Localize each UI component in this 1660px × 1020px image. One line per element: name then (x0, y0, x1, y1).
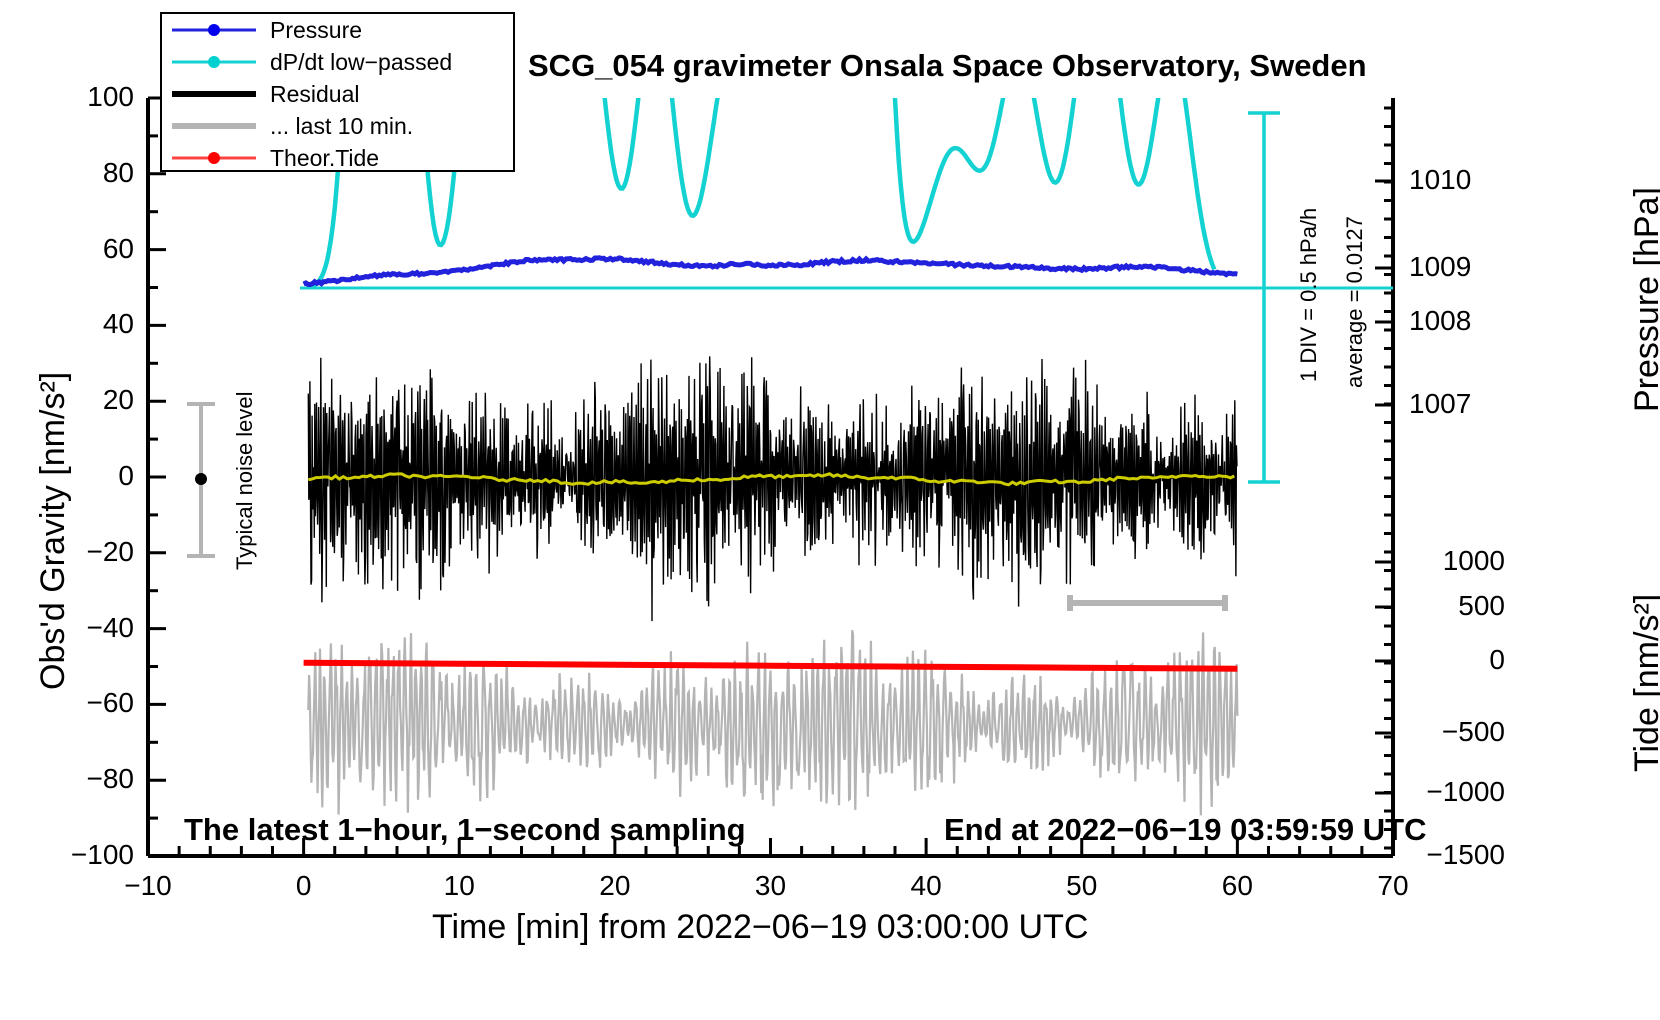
bottom-tick-label: 30 (726, 870, 816, 902)
legend-item-residual: Residual (162, 78, 513, 110)
legend-item-theor-tide: Theor.Tide (162, 142, 513, 174)
dpdt-scale-div-label: 1 DIV = 0.5 hPa/h (1296, 208, 1322, 382)
left-tick-label: 0 (0, 460, 134, 492)
left-tick-label: −60 (0, 687, 134, 719)
chart-root: Pressure dP/dt low−passed Residual ... l… (0, 0, 1660, 1020)
bottom-tick-label: 40 (881, 870, 971, 902)
dpdt-scale-bar (1248, 113, 1280, 482)
left-tick-label: −80 (0, 763, 134, 795)
series-last10min (308, 630, 1237, 815)
right-tide-tick-label: 1000 (1409, 545, 1505, 577)
legend-swatch-theor-tide (172, 148, 256, 168)
right-tide-tick-label: −500 (1409, 716, 1505, 748)
right-axis-ticks (1375, 108, 1393, 856)
left-tick-label: 40 (0, 308, 134, 340)
right-pressure-tick-label: 1009 (1409, 251, 1471, 283)
left-tick-label: 80 (0, 157, 134, 189)
right-tide-axis-title: Tide [nm/s²] (1628, 594, 1660, 772)
bottom-tick-label: 50 (1037, 870, 1127, 902)
series-pressure (304, 258, 1238, 285)
right-pressure-tick-label: 1008 (1409, 305, 1471, 337)
legend-label-residual: Residual (270, 83, 360, 106)
legend-swatch-pressure (172, 20, 256, 40)
right-tide-tick-label: 0 (1409, 644, 1505, 676)
legend-label-last10: ... last 10 min. (270, 115, 413, 138)
bottom-tick-label: −10 (103, 870, 193, 902)
chart-title: SCG_054 gravimeter Onsala Space Observat… (528, 48, 1367, 84)
bottom-tick-label: 70 (1348, 870, 1438, 902)
left-tick-label: −100 (0, 839, 134, 871)
right-pressure-axis-title: Pressure [hPa] (1628, 187, 1660, 412)
series-residual (308, 356, 1237, 621)
left-tick-label: 60 (0, 233, 134, 265)
left-tick-label: −40 (0, 612, 134, 644)
bottom-left-annotation: The latest 1−hour, 1−second sampling (184, 812, 746, 848)
legend-label-dpdt: dP/dt low−passed (270, 51, 452, 74)
left-tick-label: 100 (0, 81, 134, 113)
legend-label-pressure: Pressure (270, 19, 362, 42)
right-tide-tick-label: 500 (1409, 590, 1505, 622)
legend-item-last10: ... last 10 min. (162, 110, 513, 142)
noise-level-label: Typical noise level (232, 391, 258, 570)
bottom-tick-label: 60 (1192, 870, 1282, 902)
left-tick-label: 20 (0, 384, 134, 416)
right-pressure-tick-label: 1007 (1409, 388, 1471, 420)
bottom-tick-label: 10 (414, 870, 504, 902)
last10min-span-bar (1070, 595, 1225, 611)
right-tide-tick-label: −1000 (1409, 776, 1505, 808)
bottom-right-annotation: End at 2022−06−19 03:59:59 UTC (944, 812, 1427, 848)
legend-swatch-residual (172, 84, 256, 104)
series-theor-tide (304, 663, 1238, 669)
right-pressure-tick-label: 1010 (1409, 164, 1471, 196)
bottom-axis-title: Time [min] from 2022−06−19 03:00:00 UTC (432, 908, 1088, 947)
legend-item-dpdt: dP/dt low−passed (162, 46, 513, 78)
legend-label-theor-tide: Theor.Tide (270, 147, 379, 170)
dpdt-scale-average-label: average = 0.0127 (1342, 216, 1368, 388)
noise-level-dot (195, 473, 207, 485)
legend-swatch-last10 (172, 116, 256, 136)
bottom-tick-label: 0 (259, 870, 349, 902)
left-axis-ticks (148, 98, 166, 856)
bottom-tick-label: 20 (570, 870, 660, 902)
legend: Pressure dP/dt low−passed Residual ... l… (160, 12, 515, 172)
legend-swatch-dpdt (172, 52, 256, 72)
right-tide-tick-label: −1500 (1409, 839, 1505, 871)
legend-item-pressure: Pressure (162, 14, 513, 46)
left-tick-label: −20 (0, 536, 134, 568)
